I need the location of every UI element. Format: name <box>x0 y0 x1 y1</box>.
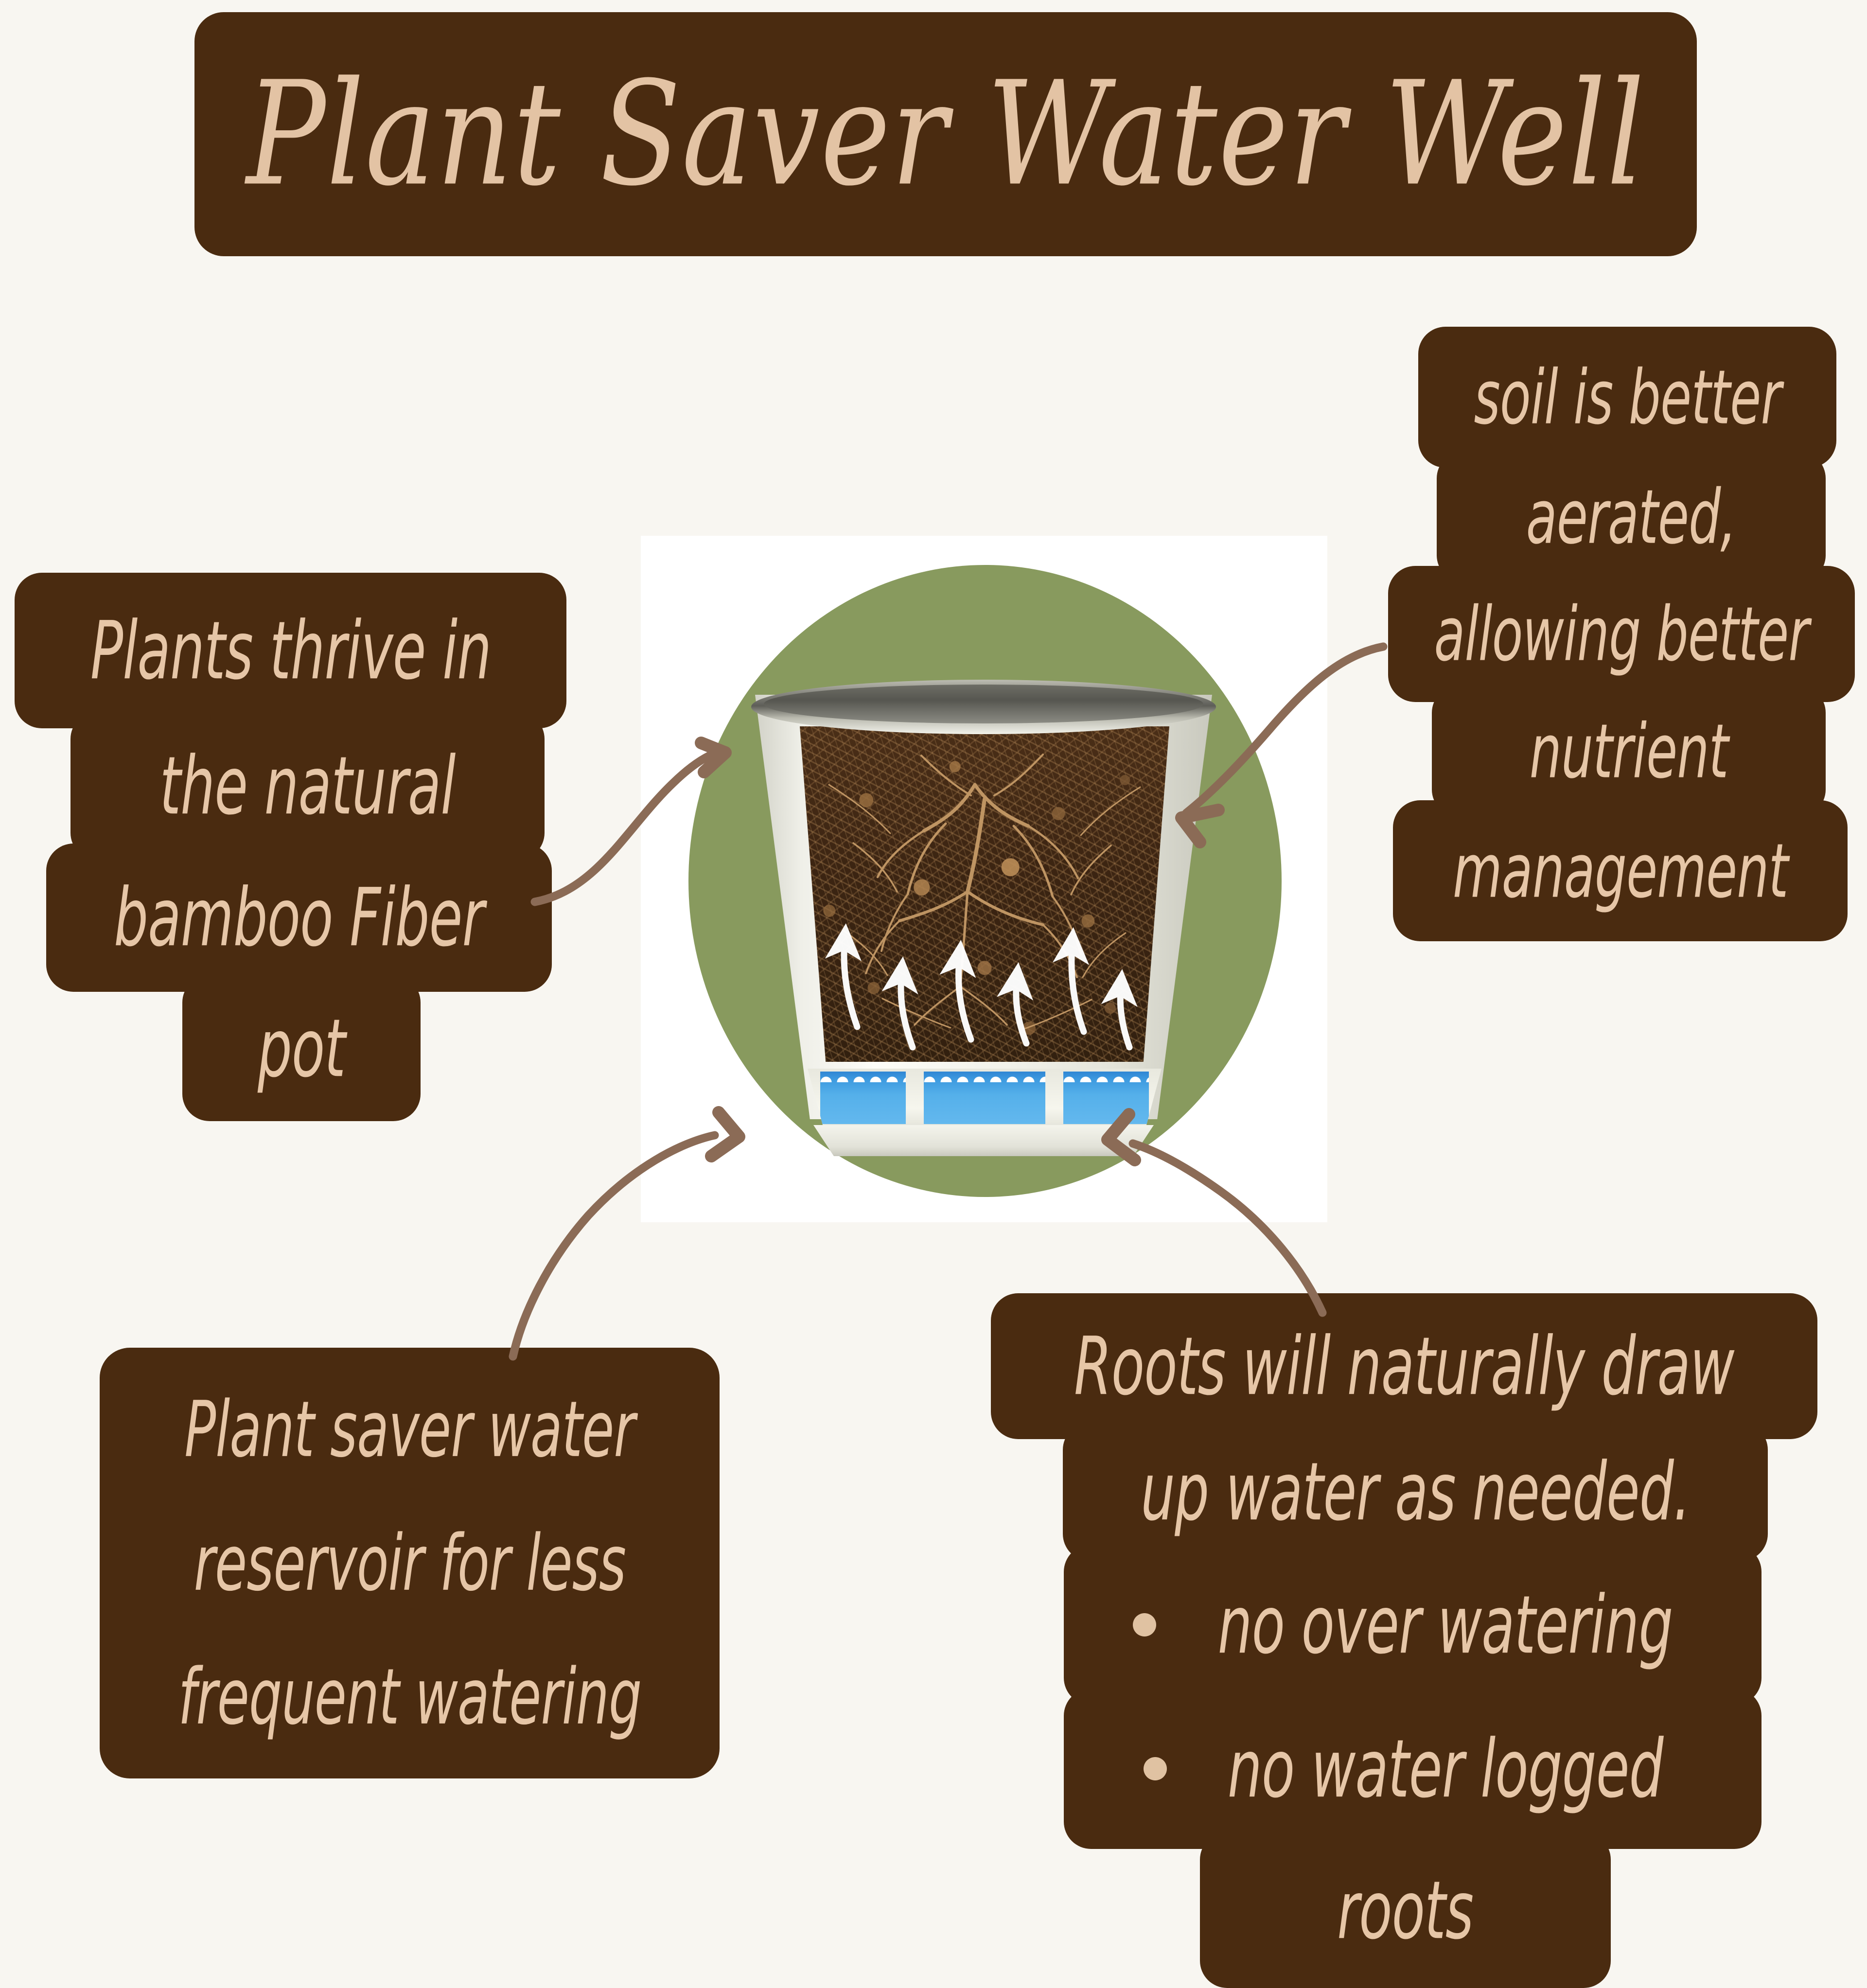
bullet-dot-icon <box>1133 1613 1156 1636</box>
callout-plants-thrive: Plants thrive in the natural bamboo Fibe… <box>15 573 588 1121</box>
callout-text: bamboo Fiber <box>114 871 484 965</box>
callout-line-block: aerated, <box>1437 451 1826 582</box>
pot-cutaway <box>755 682 1212 1119</box>
callout-line-block: Plants thrive in <box>15 573 566 728</box>
water-compartment <box>820 1072 906 1124</box>
product-figure <box>641 536 1327 1222</box>
reservoir-floor <box>813 1125 1154 1156</box>
callout-text: allowing better <box>1434 590 1809 677</box>
callout-text: nutrient <box>1530 707 1728 794</box>
water-compartment <box>924 1072 1045 1124</box>
callout-line-block: roots <box>1200 1832 1611 1988</box>
callout-line-block: nutrient <box>1432 686 1826 817</box>
callout-bullet-text: no water logged <box>1228 1722 1663 1815</box>
callout-text: Roots will naturally draw <box>1074 1319 1734 1413</box>
callout-line-block: no over watering <box>1064 1545 1761 1705</box>
bullet-dot-icon <box>1144 1757 1167 1780</box>
pot-rim-inner <box>764 685 1203 723</box>
callout-roots-draw-water: Roots will naturally draw up water as ne… <box>991 1293 1847 1988</box>
callout-text: Plant saver water <box>184 1384 634 1474</box>
callout-line-block: soil is better <box>1418 327 1836 468</box>
title-banner: Plant Saver Water Well <box>194 12 1697 256</box>
callout-water-reservoir: Plant saver water reservoir for less fre… <box>100 1348 720 1778</box>
callout-text: up water as needed. <box>1141 1445 1690 1539</box>
callout-line-block: management <box>1393 800 1848 941</box>
pot-rim-outer <box>751 680 1216 734</box>
water-reservoir <box>808 1069 1162 1135</box>
infographic-canvas: Plant Saver Water Well <box>0 0 1867 1936</box>
callout-text: pot <box>258 1002 345 1095</box>
water-compartment <box>1063 1072 1149 1124</box>
callout-line-block: no water logged <box>1064 1689 1761 1849</box>
callout-line-block: Roots will naturally draw <box>991 1293 1817 1439</box>
callout-text: roots <box>1337 1864 1473 1957</box>
callout-text: soil is better <box>1474 353 1781 440</box>
callout-line-block: up water as needed. <box>1063 1423 1768 1561</box>
callout-text: Plants thrive in <box>90 604 491 697</box>
callout-text: aerated, <box>1526 473 1736 560</box>
callout-text: the natural <box>159 739 455 833</box>
callout-soil-aeration: soil is better aerated, allowing better … <box>1388 327 1855 941</box>
callout-line-block: bamboo Fiber <box>46 844 552 992</box>
callout-bullet-text: no over watering <box>1218 1578 1673 1671</box>
page-title: Plant Saver Water Well <box>246 63 1645 206</box>
callout-text: frequent watering <box>178 1652 641 1742</box>
callout-text: reservoir for less <box>194 1518 625 1608</box>
soil-layer <box>800 726 1169 1062</box>
callout-text: management <box>1453 827 1788 914</box>
callout-line-block: the natural <box>70 712 545 860</box>
callout-line-block: allowing better <box>1388 566 1855 702</box>
callout-line-block: pot <box>182 975 421 1121</box>
airflow-arrows <box>800 726 1169 1062</box>
